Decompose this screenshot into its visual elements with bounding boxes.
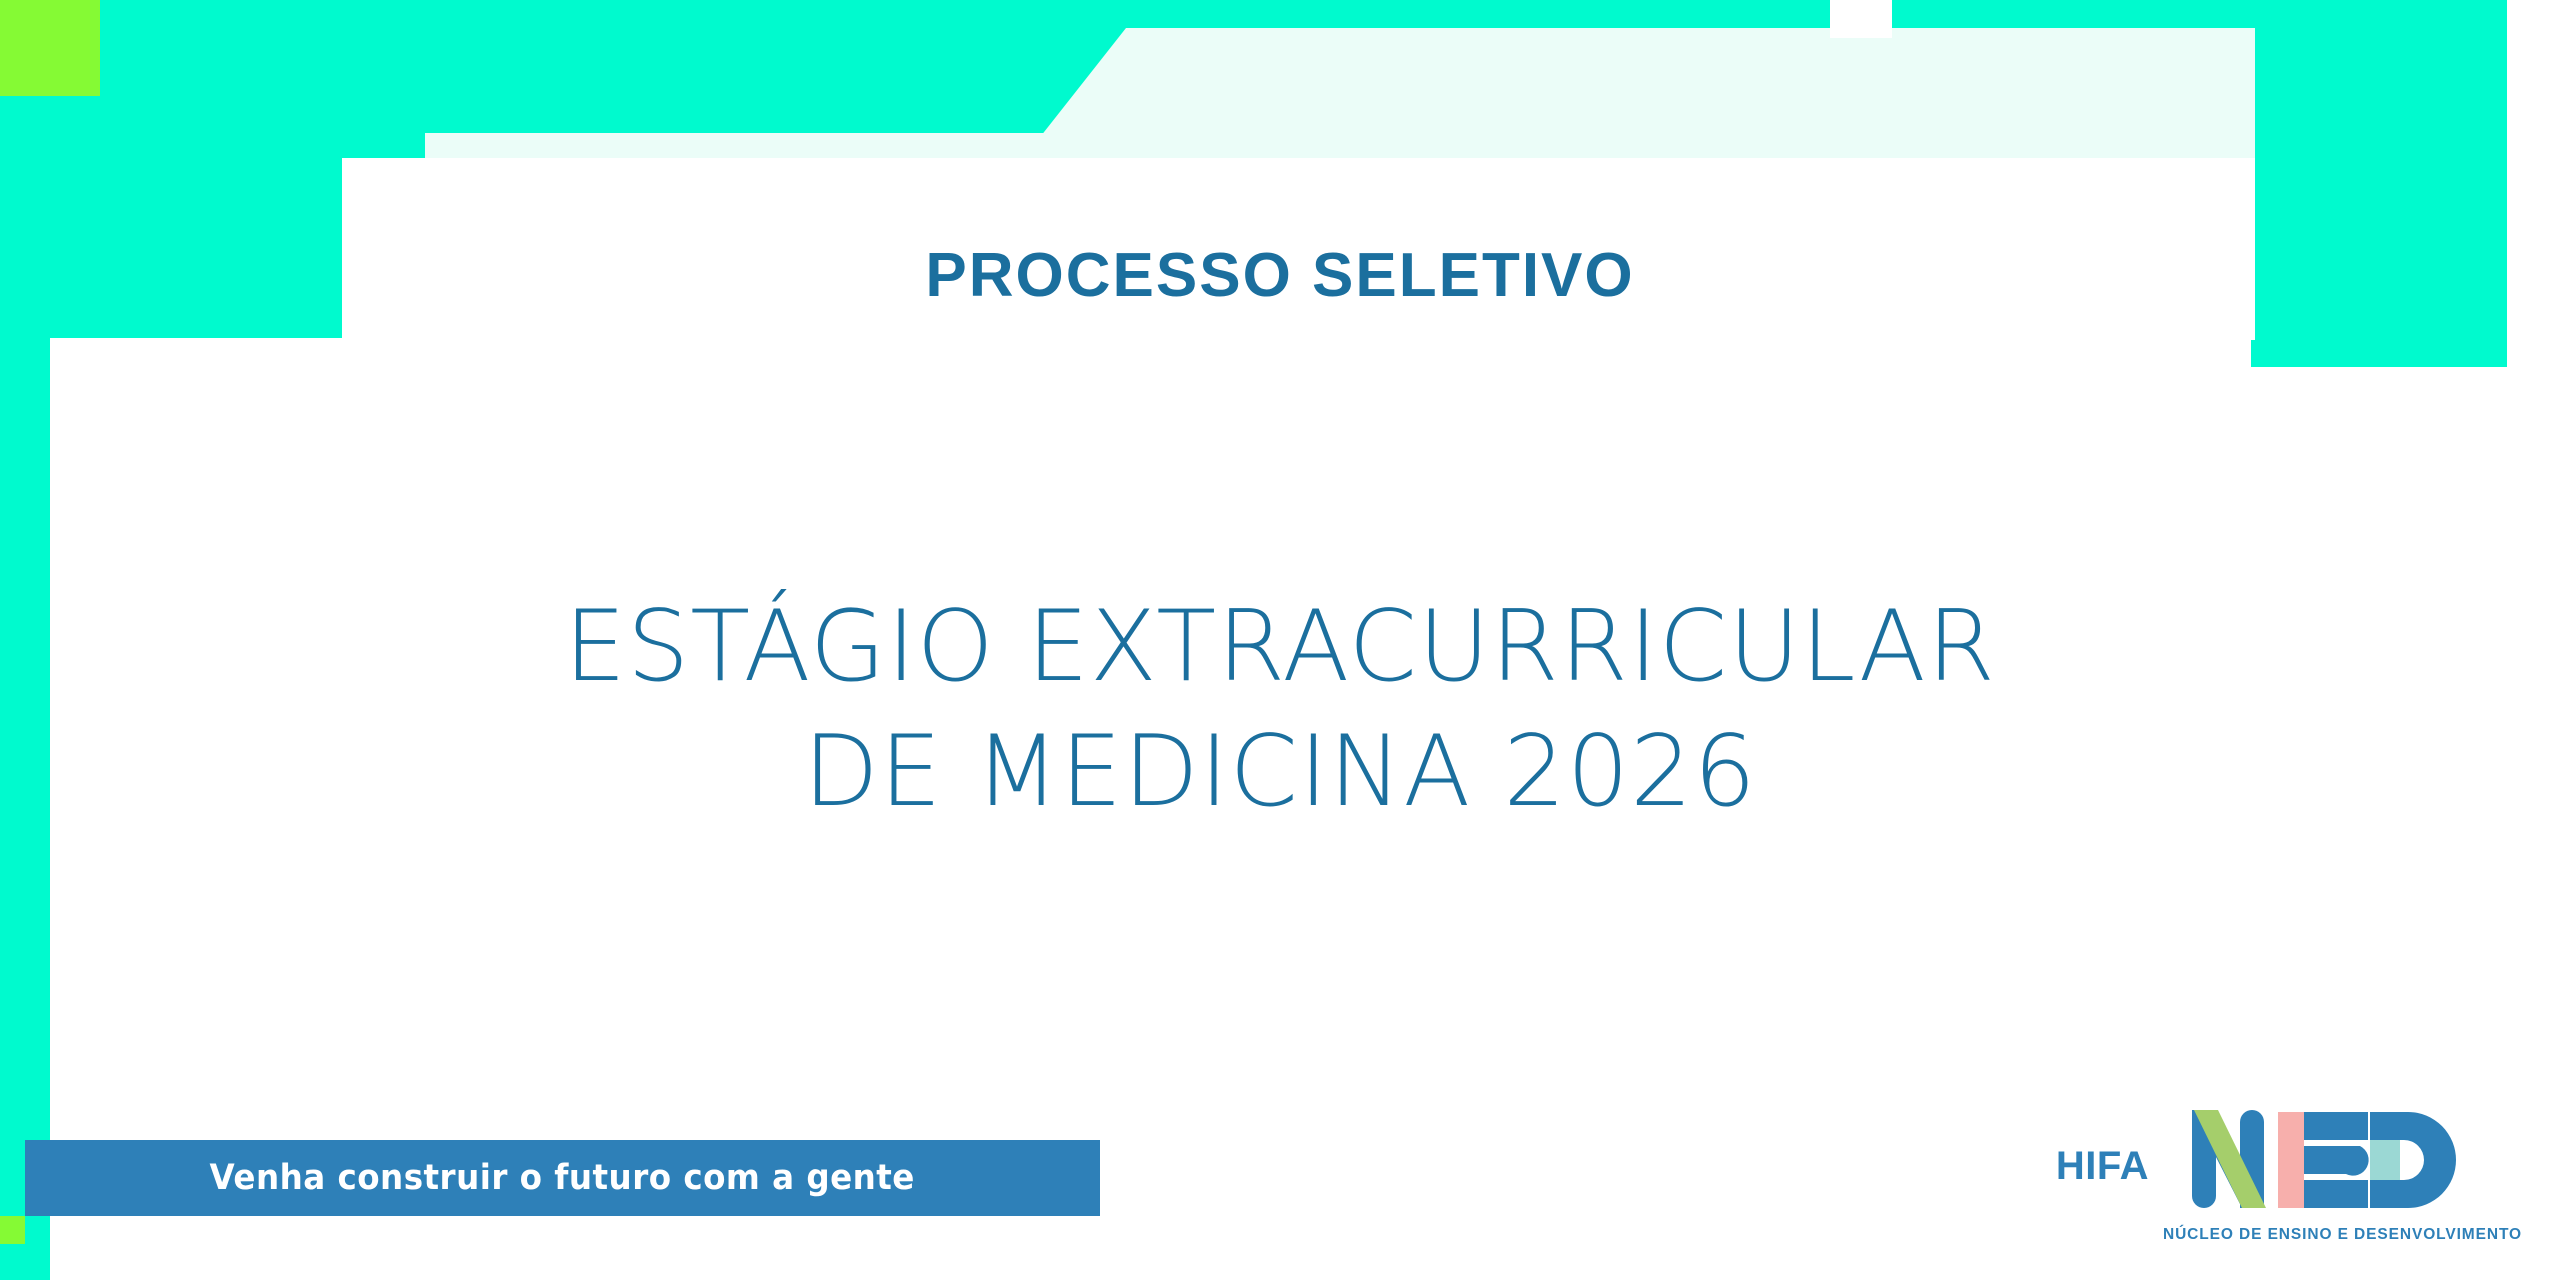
white-corner-notch xyxy=(1830,0,1892,38)
ned-logo-group: NÚCLEO DE ENSINO E DESENVOLVIMENTO xyxy=(2163,1100,2522,1244)
ned-tagline: NÚCLEO DE ENSINO E DESENVOLVIMENTO xyxy=(2163,1226,2522,1244)
tagline-ribbon: Venha construir o futuro com a gente xyxy=(25,1140,1100,1216)
hifa-wordmark: HIFA xyxy=(2056,1144,2149,1189)
ned-wordmark-icon xyxy=(2192,1100,2492,1220)
tagline-ribbon-text: Venha construir o futuro com a gente xyxy=(210,1158,915,1198)
page-title-line-2: DE MEDICINA 2026 xyxy=(0,710,2560,835)
page-title: ESTÁGIO EXTRACURRICULAR DE MEDICINA 2026 xyxy=(0,585,2560,836)
kicker-title: PROCESSO SELETIVO xyxy=(0,240,2560,311)
mint-accent-band xyxy=(425,133,2255,159)
slide-canvas: PROCESSO SELETIVO ESTÁGIO EXTRACURRICULA… xyxy=(0,0,2560,1280)
lime-square-bottom-left xyxy=(0,1216,25,1244)
hifa-ned-logo: HIFA NÚCLEO DE ENSINO E DESENVO xyxy=(2056,1100,2522,1244)
lime-square-top-left xyxy=(0,0,100,96)
page-title-line-1: ESTÁGIO EXTRACURRICULAR xyxy=(0,585,2560,710)
